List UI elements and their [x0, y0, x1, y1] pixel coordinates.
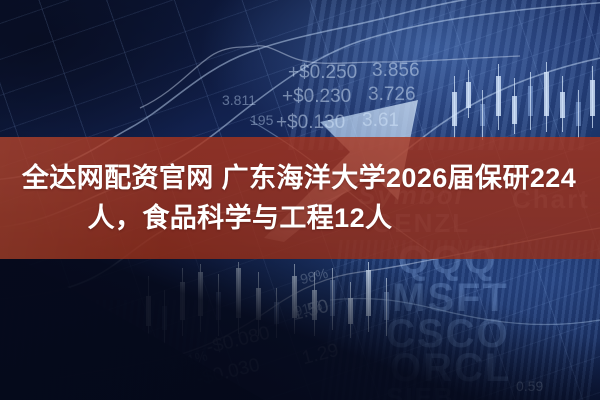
headline-text-block: 全达网配资官网 广东海洋大学2026届保研224 人，食品科学与工程12人	[0, 137, 600, 259]
promotional-banner-image: QQQ MSFT CSCO ORCL SIEB Symbol GENZL Cha…	[0, 0, 600, 400]
headline-line-2: 人，食品科学与工程12人	[88, 199, 393, 237]
headline-line-1: 全达网配资官网 广东海洋大学2026届保研224	[22, 159, 578, 197]
